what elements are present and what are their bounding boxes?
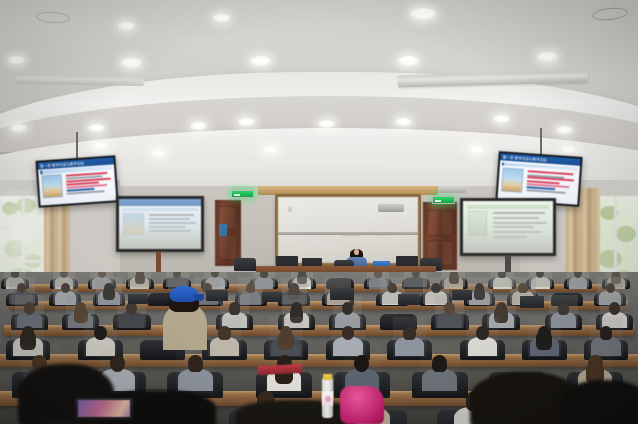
downlight-14 [395, 118, 412, 126]
depth-haze [166, 272, 189, 287]
downlight-21 [318, 120, 335, 128]
downlight-9 [10, 124, 27, 132]
depth-haze [435, 295, 464, 328]
depth-haze [128, 272, 151, 287]
slide-text-line-7 [526, 189, 566, 194]
downlight-2 [118, 22, 135, 30]
blue-baseball-cap-brim [194, 294, 204, 301]
downlight-17 [262, 146, 279, 154]
door-left-blue-sign [219, 224, 227, 236]
emergency-exit-sign-left [231, 190, 254, 198]
downlight-3 [121, 58, 142, 68]
tv-right-slide-text-lines [525, 169, 576, 199]
downlight-8 [537, 52, 558, 62]
pink-backpack [340, 386, 384, 424]
tv-display-left[interactable]: 第一章 教学内容与教学目标 [35, 155, 118, 207]
stage-chair-left [234, 258, 256, 271]
water-bottle-cap [323, 374, 332, 380]
downlight-4 [213, 14, 230, 22]
depth-haze [528, 317, 561, 357]
water-bottle-label-graphic [325, 396, 331, 402]
downlight-1 [8, 56, 25, 64]
tv-left-mount-arm [76, 132, 78, 160]
projector-mount-right [438, 186, 466, 193]
emergency-exit-sign-right [432, 196, 455, 204]
audience-laptop-2 [262, 292, 282, 302]
downlight-20 [468, 146, 485, 154]
audience-laptop-4 [398, 294, 420, 305]
ceiling-projector [378, 204, 404, 212]
downlight-18 [150, 150, 167, 158]
downlight-16 [556, 126, 573, 134]
audience-laptop-7 [128, 294, 148, 304]
tv-left-slide-text-lines [64, 171, 113, 199]
depth-haze [567, 272, 590, 287]
tv-right-mount-arm [540, 128, 542, 156]
projection-screen-left-stand [156, 252, 161, 274]
tv-right-slide-thumbnail-image [501, 168, 523, 193]
projection-screen-left [116, 196, 204, 252]
projection-screen-right [460, 198, 556, 256]
downlight-5 [250, 56, 271, 66]
downlight-12 [190, 122, 207, 130]
depth-haze [176, 345, 214, 394]
tv-right-slide: 第一章 教学内容与教学目标 [497, 153, 580, 204]
depth-haze [420, 345, 458, 394]
downlight-6 [410, 8, 436, 20]
downlight-7 [398, 56, 419, 66]
foreground-audience-silhouette-4 [236, 400, 356, 424]
downlight-15 [493, 115, 510, 123]
whiteboard-pen-rail [278, 232, 418, 235]
foreground-audience-silhouette-5 [560, 380, 638, 424]
tv-left-slide: 第一章 教学内容与教学目标 [38, 157, 117, 205]
audience-laptop-1 [206, 290, 228, 301]
lecture-hall-photo: 第一章 教学内容与教学目标 第一章 教学内容与教学目标 [0, 0, 638, 424]
tv-left-slide-thumbnail-image [42, 174, 63, 198]
presenter-face [354, 249, 359, 255]
audience-laptop-6 [520, 296, 544, 308]
downlight-13 [238, 118, 255, 126]
tablet-screen [78, 400, 130, 417]
downlight-10 [88, 124, 105, 132]
audience-laptop-5 [452, 290, 472, 300]
downlight-19 [560, 146, 577, 154]
tv-right-slide-title: 第一章 教学内容与教学目标 [503, 155, 547, 163]
audience-laptop-3 [330, 288, 354, 300]
downlight-11 [92, 142, 109, 150]
depth-haze [466, 317, 499, 357]
